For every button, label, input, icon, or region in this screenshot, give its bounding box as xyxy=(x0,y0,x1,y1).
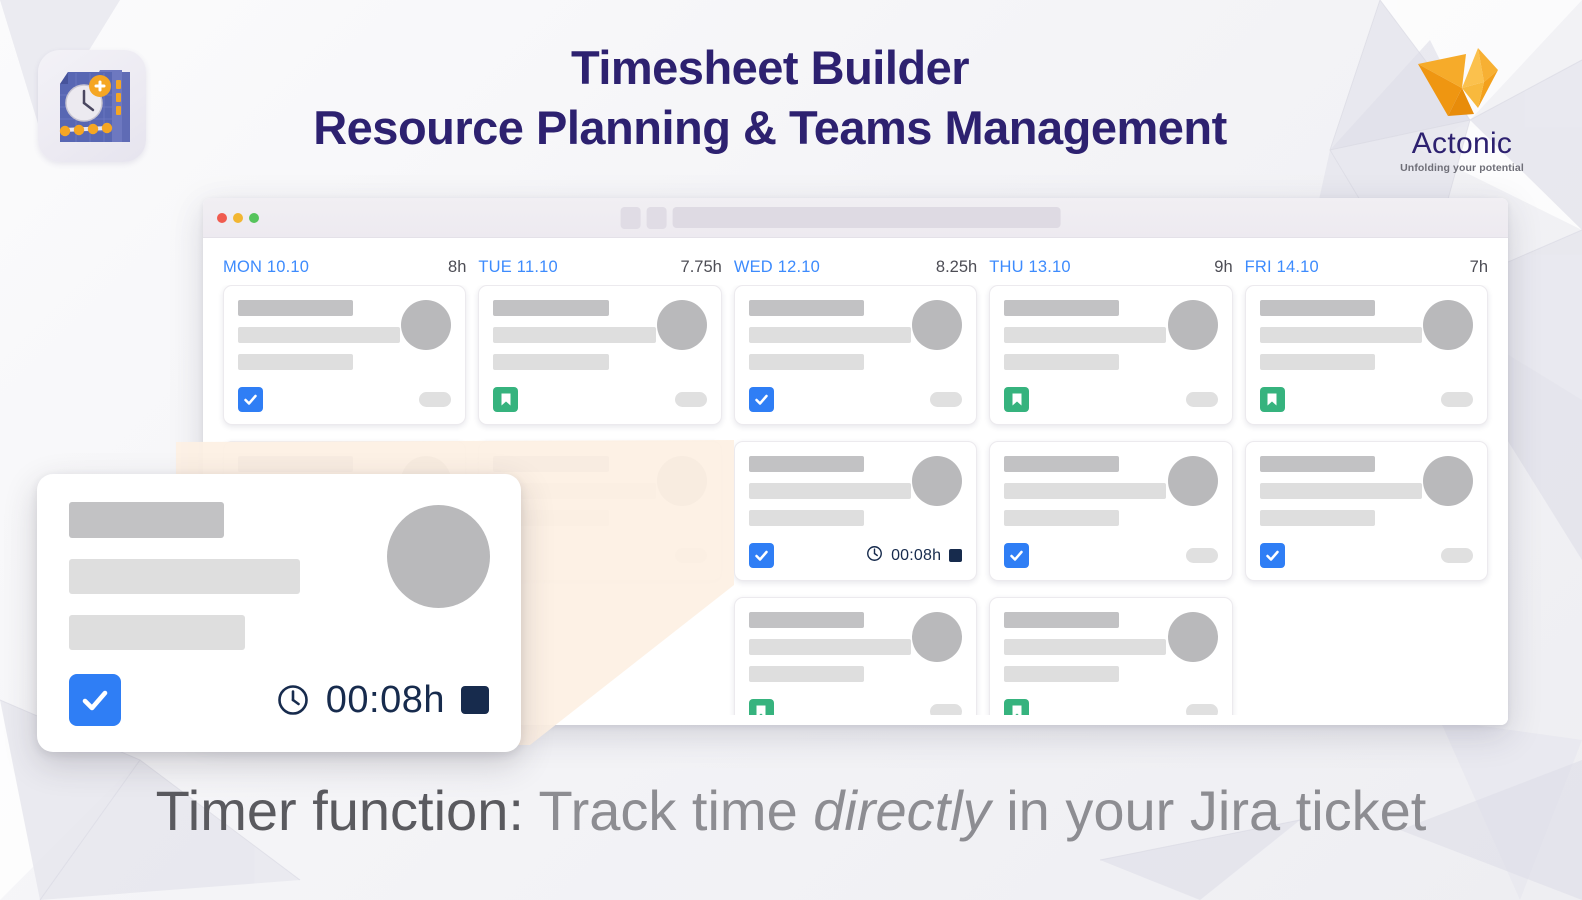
card-action-pill[interactable] xyxy=(1186,704,1218,715)
task-card[interactable]: 00:08h xyxy=(734,441,977,581)
checkbox-checked-icon[interactable] xyxy=(1004,543,1029,568)
bookmark-icon[interactable] xyxy=(1004,387,1029,412)
day-header-mon[interactable]: MON 10.10 8h xyxy=(217,258,472,277)
browser-chrome xyxy=(203,198,1508,238)
card-meta-placeholder xyxy=(493,354,608,370)
card-action-pill[interactable] xyxy=(419,392,451,407)
day-column-thu xyxy=(983,285,1238,715)
card-footer xyxy=(493,543,706,568)
card-meta-placeholder xyxy=(1004,666,1119,682)
brand-tagline: Unfolding your potential xyxy=(1372,162,1552,174)
card-subtitle-placeholder xyxy=(238,327,400,343)
card-title-placeholder xyxy=(238,456,353,472)
timesheet-builder-app-icon xyxy=(38,50,146,162)
minimize-window-button[interactable] xyxy=(233,213,243,223)
card-subtitle-placeholder xyxy=(749,639,911,655)
bookmark-icon[interactable] xyxy=(1004,699,1029,715)
card-footer xyxy=(1004,699,1217,715)
task-card[interactable] xyxy=(223,285,466,425)
card-title-placeholder xyxy=(1260,456,1375,472)
card-title-placeholder xyxy=(493,456,608,472)
caption-mid: Track time xyxy=(524,779,813,842)
card-subtitle-placeholder xyxy=(1260,483,1422,499)
card-footer xyxy=(1260,387,1473,412)
card-meta-placeholder xyxy=(1260,354,1375,370)
card-footer xyxy=(493,387,706,412)
day-total-hours: 7h xyxy=(1470,258,1488,277)
card-meta-placeholder xyxy=(1004,354,1119,370)
url-input[interactable] xyxy=(672,207,1060,228)
avatar xyxy=(657,456,707,506)
avatar xyxy=(387,505,490,608)
card-meta-placeholder xyxy=(749,666,864,682)
card-action-pill[interactable] xyxy=(675,392,707,407)
timer-value: 00:08h xyxy=(326,679,445,722)
card-footer xyxy=(1004,543,1217,568)
avatar xyxy=(1168,300,1218,350)
card-title-placeholder xyxy=(69,502,224,538)
day-column-fri xyxy=(1239,285,1494,715)
timer-control[interactable]: 00:08h xyxy=(276,679,489,722)
card-title-placeholder xyxy=(749,456,864,472)
checkbox-checked-icon[interactable] xyxy=(749,387,774,412)
task-card[interactable] xyxy=(1245,441,1488,581)
checkbox-checked-icon[interactable] xyxy=(238,387,263,412)
card-footer xyxy=(1004,387,1217,412)
page-title-line2: Resource Planning & Teams Management xyxy=(170,98,1370,158)
card-subtitle-placeholder xyxy=(1004,483,1166,499)
clock-icon xyxy=(276,683,310,717)
card-title-placeholder xyxy=(238,300,353,316)
avatar xyxy=(1168,456,1218,506)
card-subtitle-placeholder xyxy=(1004,327,1166,343)
magnified-task-card[interactable]: 00:08h xyxy=(37,474,521,752)
caption-italic: directly xyxy=(813,779,990,842)
card-footer xyxy=(1260,543,1473,568)
day-label: WED 12.10 xyxy=(734,258,820,277)
day-label: MON 10.10 xyxy=(223,258,309,277)
day-total-hours: 7.75h xyxy=(681,258,722,277)
day-total-hours: 8h xyxy=(448,258,466,277)
caption: Timer function: Track time directly in y… xyxy=(0,778,1582,843)
day-total-hours: 8.25h xyxy=(936,258,977,277)
card-action-pill[interactable] xyxy=(930,704,962,715)
bookmark-icon[interactable] xyxy=(493,387,518,412)
avatar xyxy=(912,612,962,662)
checkbox-checked-icon[interactable] xyxy=(749,543,774,568)
card-action-pill[interactable] xyxy=(930,392,962,407)
browser-toolbar xyxy=(620,207,1060,229)
card-subtitle-placeholder xyxy=(749,327,911,343)
stop-square-icon[interactable] xyxy=(461,686,489,714)
card-subtitle-placeholder xyxy=(749,483,911,499)
maximize-window-button[interactable] xyxy=(249,213,259,223)
day-label: THU 13.10 xyxy=(989,258,1071,277)
card-footer xyxy=(749,387,962,412)
clock-icon xyxy=(866,545,883,567)
day-header-thu[interactable]: THU 13.10 9h xyxy=(983,258,1238,277)
bookmark-icon[interactable] xyxy=(1260,387,1285,412)
timer-control[interactable]: 00:08h xyxy=(866,545,962,567)
actonic-origami-logo xyxy=(1406,38,1518,120)
task-card[interactable] xyxy=(478,285,721,425)
avatar xyxy=(401,300,451,350)
window-controls xyxy=(217,213,259,223)
close-window-button[interactable] xyxy=(217,213,227,223)
card-action-pill[interactable] xyxy=(1441,392,1473,407)
card-footer: 00:08h xyxy=(749,543,962,568)
stop-square-icon[interactable] xyxy=(949,549,962,562)
checkbox-checked-icon[interactable] xyxy=(69,674,121,726)
card-action-pill[interactable] xyxy=(675,548,707,563)
card-title-placeholder xyxy=(749,300,864,316)
back-button[interactable] xyxy=(620,207,640,229)
day-header-tue[interactable]: TUE 11.10 7.75h xyxy=(472,258,727,277)
day-header-wed[interactable]: WED 12.10 8.25h xyxy=(728,258,983,277)
card-meta-placeholder xyxy=(749,354,864,370)
brand-name: Actonic xyxy=(1372,127,1552,161)
card-meta-placeholder xyxy=(1004,510,1119,526)
timer-value: 00:08h xyxy=(891,547,941,565)
card-subtitle-placeholder xyxy=(69,559,300,594)
task-card[interactable] xyxy=(734,285,977,425)
avatar xyxy=(657,300,707,350)
card-title-placeholder xyxy=(1260,300,1375,316)
card-footer: 00:08h xyxy=(69,674,489,726)
caption-tail: in your Jira ticket xyxy=(991,779,1427,842)
avatar xyxy=(912,456,962,506)
bookmark-icon[interactable] xyxy=(749,699,774,715)
card-title-placeholder xyxy=(749,612,864,628)
avatar xyxy=(1423,300,1473,350)
card-meta-placeholder xyxy=(1260,510,1375,526)
task-card[interactable] xyxy=(989,597,1232,715)
page-title: Timesheet Builder Resource Planning & Te… xyxy=(170,38,1370,158)
card-action-pill[interactable] xyxy=(1186,548,1218,563)
card-subtitle-placeholder xyxy=(493,327,655,343)
forward-button[interactable] xyxy=(646,207,666,229)
task-card[interactable] xyxy=(734,597,977,715)
card-meta-placeholder xyxy=(238,354,353,370)
day-total-hours: 9h xyxy=(1214,258,1232,277)
card-title-placeholder xyxy=(1004,300,1119,316)
task-card[interactable] xyxy=(989,285,1232,425)
card-footer xyxy=(238,387,451,412)
task-card[interactable] xyxy=(989,441,1232,581)
task-card[interactable] xyxy=(1245,285,1488,425)
card-footer xyxy=(749,699,962,715)
card-title-placeholder xyxy=(493,300,608,316)
card-action-pill[interactable] xyxy=(1186,392,1218,407)
card-meta-placeholder xyxy=(749,510,864,526)
avatar xyxy=(912,300,962,350)
card-meta-placeholder xyxy=(69,615,245,650)
brand-block: Actonic Unfolding your potential xyxy=(1372,38,1552,174)
avatar xyxy=(1168,612,1218,662)
card-subtitle-placeholder xyxy=(1260,327,1422,343)
card-title-placeholder xyxy=(1004,456,1119,472)
card-title-placeholder xyxy=(1004,612,1119,628)
day-header-row: MON 10.10 8h TUE 11.10 7.75h WED 12.10 8… xyxy=(217,238,1494,285)
day-column-wed: 00:08h xyxy=(728,285,983,715)
day-label: TUE 11.10 xyxy=(478,258,557,277)
day-label: FRI 14.10 xyxy=(1245,258,1319,277)
avatar xyxy=(1423,456,1473,506)
card-action-pill[interactable] xyxy=(1441,548,1473,563)
day-header-fri[interactable]: FRI 14.10 7h xyxy=(1239,258,1494,277)
checkbox-checked-icon[interactable] xyxy=(1260,543,1285,568)
page-title-line1: Timesheet Builder xyxy=(571,41,969,94)
card-subtitle-placeholder xyxy=(1004,639,1166,655)
caption-strong: Timer function: xyxy=(156,779,524,842)
